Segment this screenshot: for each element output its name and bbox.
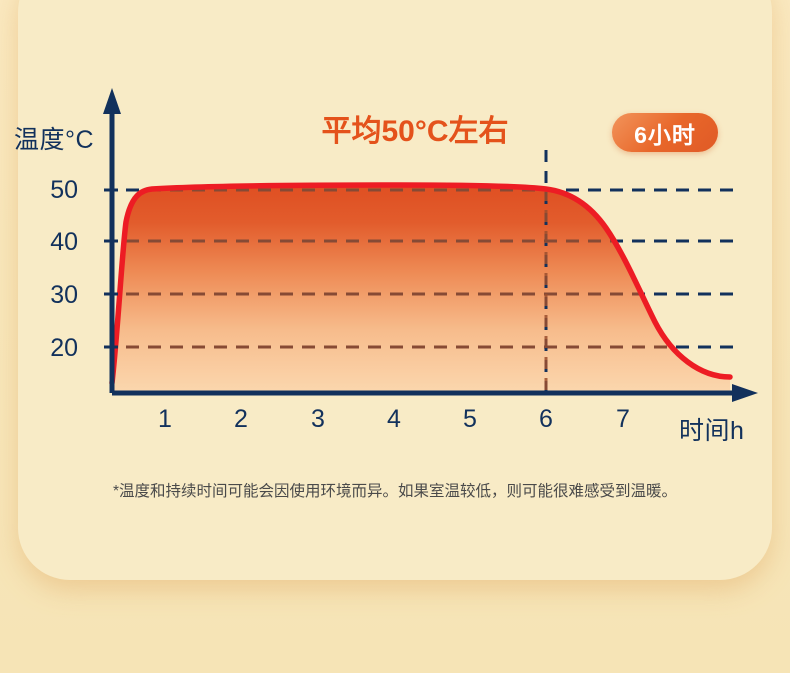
y-axis-label: 温度°C <box>14 120 94 156</box>
x-axis-label: 时间h <box>679 411 744 447</box>
x-tick-label-1: 1 <box>145 405 185 434</box>
temperature-chart <box>0 0 790 673</box>
x-tick-label-3: 3 <box>298 405 338 434</box>
chart-footnote: *温度和持续时间可能会因使用环境而异。如果室温较低，则可能很难感受到温暖。 <box>0 479 790 501</box>
y-tick-label-50: 50 <box>22 176 78 205</box>
y-tick-label-20: 20 <box>22 334 78 363</box>
x-tick-label-4: 4 <box>374 405 414 434</box>
x-tick-label-5: 5 <box>450 405 490 434</box>
x-tick-label-6: 6 <box>526 405 566 434</box>
duration-badge: 6小时 <box>612 113 718 152</box>
x-tick-label-2: 2 <box>221 405 261 434</box>
chart-title: 平均50°C左右 <box>300 106 530 150</box>
x-tick-label-7: 7 <box>603 405 643 434</box>
y-tick-label-40: 40 <box>22 228 78 257</box>
y-tick-label-30: 30 <box>22 281 78 310</box>
